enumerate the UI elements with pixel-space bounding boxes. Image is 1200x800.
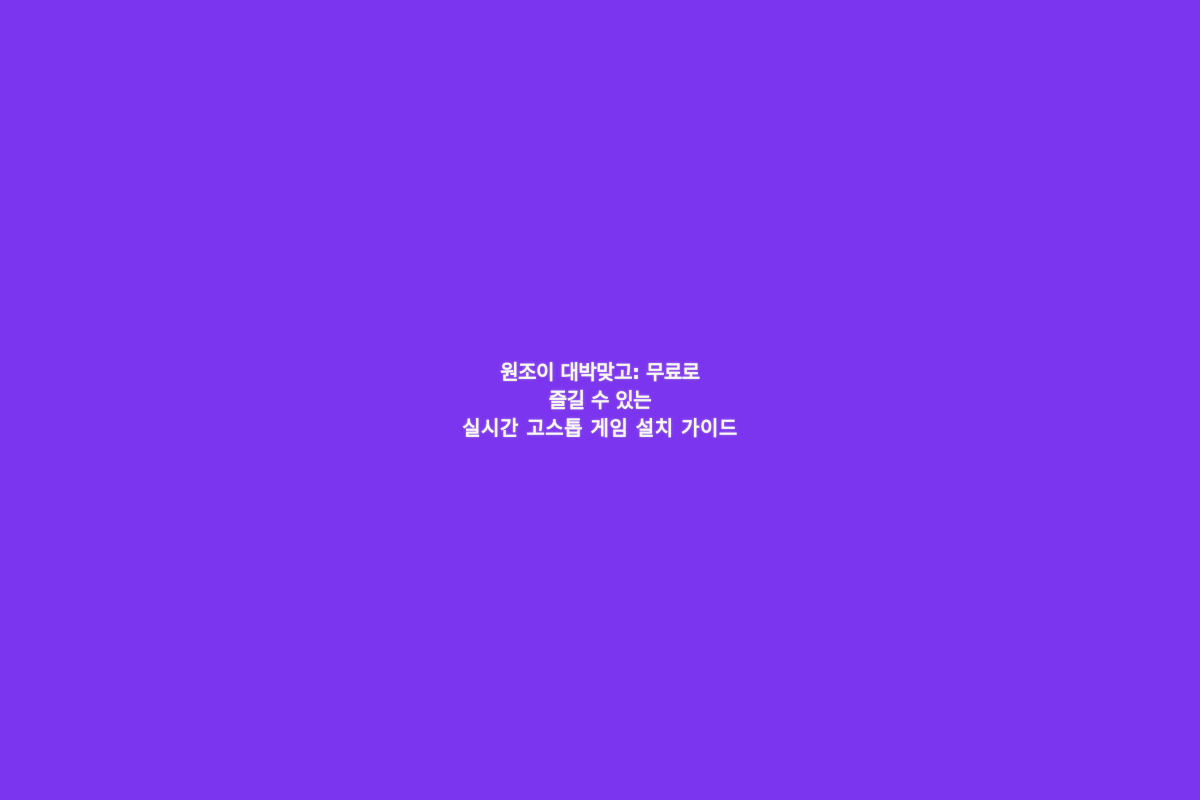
headline-line-3: 실시간 고스톱 게임 설치 가이드 <box>0 414 1200 442</box>
banner-canvas: 원조이 대박맞고: 무료로 즐길 수 있는 실시간 고스톱 게임 설치 가이드 <box>0 0 1200 800</box>
headline-line-2: 즐길 수 있는 <box>0 386 1200 414</box>
headline-line-1: 원조이 대박맞고: 무료로 <box>0 358 1200 386</box>
page-title: 원조이 대박맞고: 무료로 즐길 수 있는 실시간 고스톱 게임 설치 가이드 <box>0 358 1200 442</box>
